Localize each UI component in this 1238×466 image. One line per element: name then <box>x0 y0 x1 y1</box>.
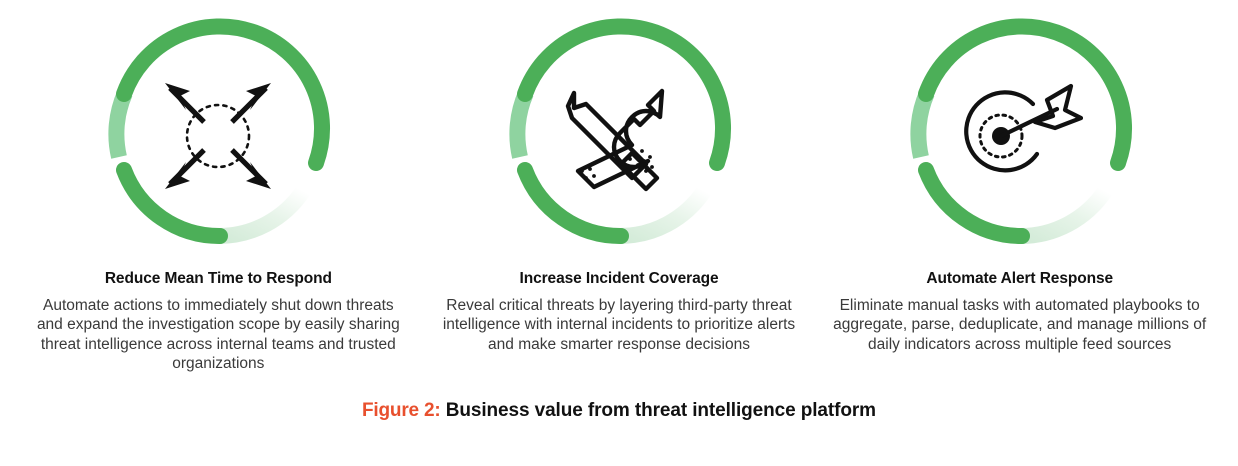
ring-arc-mid <box>918 93 927 157</box>
figure-container: Reduce Mean Time to Respond Automate act… <box>0 0 1238 466</box>
card-title-2: Increase Incident Coverage <box>520 270 719 289</box>
ring-arc-fade <box>218 191 303 236</box>
progress-ring-2 <box>503 18 735 254</box>
ring-arc-solid-major <box>525 26 723 163</box>
ring-graphic-3 <box>904 18 1136 254</box>
ring-arc-solid-bottom <box>926 170 1022 236</box>
ring-arc-fade <box>619 191 704 236</box>
card-title-3: Automate Alert Response <box>926 270 1113 289</box>
ring-arc-solid-major <box>926 26 1124 163</box>
ring-graphic-1 <box>102 18 334 254</box>
card-description-1: Automate actions to immediately shut dow… <box>28 296 408 374</box>
figure-caption-text: Business value from threat intelligence … <box>446 400 876 421</box>
ring-graphic-2 <box>503 18 735 254</box>
ring-arc-fade <box>1020 191 1105 236</box>
progress-ring-1 <box>102 18 334 254</box>
ring-arc-solid-major <box>124 26 322 163</box>
value-column-incident-coverage: Increase Incident Coverage Reveal critic… <box>419 0 820 354</box>
value-column-reduce-mttr: Reduce Mean Time to Respond Automate act… <box>18 0 419 374</box>
progress-ring-3 <box>904 18 1136 254</box>
figure-caption: Figure 2: Business value from threat int… <box>0 400 1238 423</box>
ring-arc-solid-bottom <box>525 170 621 236</box>
card-title-1: Reduce Mean Time to Respond <box>105 270 332 289</box>
card-description-3: Eliminate manual tasks with automated pl… <box>830 296 1210 355</box>
ring-arc-mid <box>117 93 126 157</box>
value-columns: Reduce Mean Time to Respond Automate act… <box>0 0 1238 374</box>
ring-arc-mid <box>517 93 526 157</box>
card-description-2: Reveal critical threats by layering thir… <box>429 296 809 355</box>
value-column-automate-alert: Automate Alert Response Eliminate manual… <box>819 0 1220 354</box>
figure-caption-label: Figure 2: <box>362 400 440 421</box>
ring-arc-solid-bottom <box>124 170 220 236</box>
